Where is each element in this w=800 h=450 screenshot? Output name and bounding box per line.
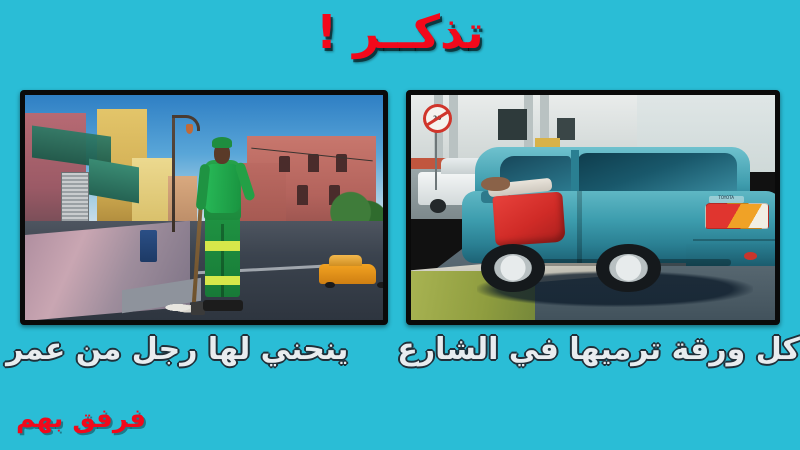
caption-right-segment: كل ورقة ترميها في الشارع [397, 332, 800, 367]
cleaner-legs [205, 216, 239, 297]
orange-taxi [319, 264, 376, 284]
trunk-seam [693, 239, 775, 241]
toyota-badge: TOYOTA [709, 196, 744, 204]
window [279, 156, 290, 172]
page-title: تذكــر ! [0, 6, 800, 59]
red-litter-bag [492, 192, 566, 247]
caption-line: كل ورقة ترميها في الشارع ينحني لها رجل م… [0, 332, 800, 367]
speed-limit-value: 20 [426, 115, 449, 122]
cleaner-cap [212, 137, 233, 148]
rear-wheel [596, 244, 660, 291]
caption-left-segment: ينحني لها رجل من عمر أبيك [0, 332, 348, 367]
trash-bin [140, 230, 158, 262]
door-seam [577, 191, 582, 263]
street-cleaner-scene [25, 95, 383, 320]
car-littering-photo: 20 TOYOTA [406, 90, 780, 325]
speed-limit-sign-icon: 20 [423, 104, 452, 133]
driver-hand [481, 177, 510, 191]
street-cleaner-photo [20, 90, 388, 325]
street-cleaner-figure [193, 136, 254, 312]
hi-vis-stripe [205, 241, 239, 252]
poster-canvas: تذكــر ! [0, 0, 800, 450]
car-littering-scene: 20 TOYOTA [411, 95, 775, 320]
window [297, 185, 308, 205]
footer-note: فرفق بهم [16, 404, 146, 434]
lamp-post [172, 115, 175, 232]
cleaner-vest [205, 164, 239, 213]
window [308, 154, 319, 172]
bumper-reflector [744, 252, 757, 260]
building-column [449, 95, 458, 167]
front-wheel [481, 244, 545, 291]
hi-vis-stripe [205, 276, 239, 285]
tail-light [705, 203, 769, 228]
cleaner-shoes [203, 300, 243, 311]
toyota-corolla: TOYOTA [462, 131, 775, 289]
